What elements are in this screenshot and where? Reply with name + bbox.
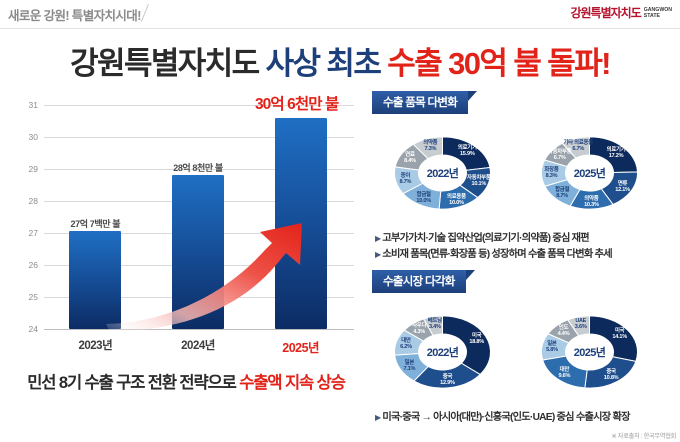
slice-percent: 8.3%	[544, 173, 558, 179]
caption-part-2: 수출액 지속 상승	[239, 374, 345, 392]
brand-logo: 강원특별자치도 GANGWON STATE	[570, 4, 672, 21]
section-export-items: 수출 품목 다변화 2022년 의료기기15.9%자동차부품10.1%의료용품1…	[372, 91, 672, 263]
y-axis-tick: 25	[14, 292, 38, 302]
donut-slice-label: 자동차부품10.1%	[467, 175, 491, 187]
donut-slice-label: 합금철8.7%	[555, 187, 569, 199]
bullet-text: 미국·중국 → 아시아(대만)·신흥국(인도·UAE) 중심 수출시장 확장	[382, 412, 629, 423]
y-axis-tick: 24	[14, 324, 38, 334]
bar-data-label: 27억 7백만 불	[71, 217, 121, 230]
tagline: 새로운 강원! 특별자치시대!	[8, 5, 141, 24]
slice-percent: 4.4%	[558, 331, 570, 337]
slice-percent: 4.3%	[412, 329, 426, 335]
x-axis-tick: 2023년	[78, 337, 112, 353]
header-divider	[0, 28, 680, 29]
bar-data-label: 30억 6천만 불	[255, 92, 338, 114]
slice-percent: 7.3%	[423, 146, 437, 152]
slice-percent: 7.1%	[403, 365, 415, 371]
donut-slice-label: 일본5.8%	[546, 341, 558, 353]
donut-slice-label: UAE3.6%	[575, 318, 587, 330]
bullet-text: 소비재 품목(면류·화장품 등) 성장하며 수출 품목 다변화 추세	[382, 249, 611, 260]
donut-slice-label: 베트남3.4%	[428, 317, 442, 329]
bar	[69, 231, 121, 329]
x-axis-line	[44, 329, 354, 330]
donut-slice-label: 의약품7.3%	[423, 140, 437, 152]
donut-row-items: 2022년 의료기기15.9%자동차부품10.1%의료용품10.0%합금철10.…	[372, 120, 672, 226]
donut-slice-label: 면류12.1%	[615, 181, 630, 193]
slice-percent: 3.4%	[428, 324, 442, 330]
slice-percent: 9.6%	[559, 373, 571, 379]
section-tag-export-items: 수출 품목 다변화	[372, 91, 468, 114]
title-part-3: 수출 30억 불 돌파!	[387, 46, 610, 81]
bullet-triangle-icon: ▶	[375, 234, 380, 243]
bullet-item: ▶미국·중국 → 아시아(대만)·신흥국(인도·UAE) 중심 수출시장 확장	[375, 410, 672, 426]
slice-percent: 10.0%	[416, 198, 431, 204]
slice-percent: 18.8%	[469, 339, 484, 345]
brand-name-ko: 강원특별자치도	[570, 4, 640, 21]
y-axis-tick: 27	[14, 228, 38, 238]
y-axis-tick: 26	[14, 260, 38, 270]
donut-slice-label: 종이8.7%	[400, 173, 412, 185]
donut-chart-markets-2025: 2025년 미국14.1%중국10.8%대만9.6%일본5.8%인도4.4%UA…	[519, 299, 660, 405]
donut-slice-label: 미국14.1%	[612, 328, 627, 340]
slice-percent: 10.8%	[604, 375, 619, 381]
donut-chart-items-2025: 2025년 의료기기17.2%면류12.1%의약품10.3%합금철8.7%화장품…	[519, 120, 660, 226]
bullets-export-items: ▶고부가가치·기술 집약산업(의료기기·의약품) 중심 재편 ▶소비재 품목(면…	[372, 231, 672, 263]
donut-row-markets: 2022년 미국18.8%중국12.9%일본7.1%대만6.2%사우디4.3%베…	[372, 299, 672, 405]
slice-percent: 8.7%	[400, 179, 412, 185]
slice-percent: 6.7%	[548, 155, 572, 161]
x-axis-tick: 2024년	[181, 337, 215, 353]
title-part-2: 사상 최초	[266, 46, 381, 81]
donut-center-label: 2022년	[427, 165, 459, 181]
slice-percent: 10.3%	[584, 201, 599, 207]
donut-slice-label: 화장품8.3%	[544, 167, 558, 179]
slice-percent: 5.8%	[546, 347, 558, 353]
bar	[172, 175, 224, 329]
bullet-text: 고부가가치·기술 집약산업(의료기기·의약품) 중심 재편	[382, 233, 589, 244]
left-caption: 민선 8기 수출 구조 전환 전략으로 수출액 지속 상승	[0, 369, 372, 393]
donut-slice-label: 의료기기17.2%	[607, 146, 626, 158]
donut-slice-label: 의료기기15.9%	[458, 145, 477, 157]
donut-slice-label: 일본7.1%	[403, 359, 415, 371]
slice-percent: 10.0%	[447, 199, 466, 205]
section-export-markets: 수출시장 다각화 2022년 미국18.8%중국12.9%일본7.1%대만6.2…	[372, 270, 672, 426]
slice-percent: 17.2%	[607, 152, 626, 158]
x-axis-tick: 2025년	[282, 337, 319, 356]
brand-name-en: GANGWON STATE	[644, 7, 672, 21]
slice-percent: 15.9%	[458, 151, 477, 157]
bar-data-label: 28억 8천만 불	[173, 161, 223, 174]
slice-percent: 6.2%	[400, 344, 412, 350]
brand-en-line2: STATE	[644, 13, 660, 19]
donut-slice-label: 중국12.9%	[440, 374, 455, 386]
donut-center-label: 2025년	[574, 165, 606, 181]
donut-chart-markets-2022: 2022년 미국18.8%중국12.9%일본7.1%대만6.2%사우디4.3%베…	[372, 299, 513, 405]
slice-percent: 10.1%	[467, 181, 491, 187]
donut-slice-label: 의약품10.3%	[584, 195, 599, 207]
export-bar-chart: 242526272829303127억 7백만 불28억 8천만 불30억 6천…	[14, 91, 354, 363]
left-column: 242526272829303127억 7백만 불28억 8천만 불30억 6천…	[0, 91, 372, 425]
donut-slice-label: 인도4.4%	[558, 325, 570, 337]
donut-slice-label: 연료8.4%	[404, 152, 416, 164]
page-title: 강원특별자치도 사상 최초 수출 30억 불 돌파!	[0, 38, 680, 83]
y-axis-tick: 28	[14, 196, 38, 206]
title-part-1: 강원특별자치도	[70, 46, 258, 81]
bullet-item: ▶고부가가치·기술 집약산업(의료기기·의약품) 중심 재편	[375, 231, 672, 247]
top-bar: 새로운 강원! 특별자치시대! 강원특별자치도 GANGWON STATE	[0, 0, 680, 28]
donut-chart-items-2022: 2022년 의료기기15.9%자동차부품10.1%의료용품10.0%합금철10.…	[372, 120, 513, 226]
y-axis-tick: 30	[14, 132, 38, 142]
donut-slice-label: 의료용품10.0%	[447, 193, 466, 205]
donut-slice-label: 대만9.6%	[559, 367, 571, 379]
slice-percent: 12.9%	[440, 380, 455, 386]
slice-percent: 6.7%	[563, 146, 593, 152]
slice-percent: 8.7%	[555, 193, 569, 199]
bullet-triangle-icon: ▶	[375, 250, 380, 259]
right-column: 수출 품목 다변화 2022년 의료기기15.9%자동차부품10.1%의료용품1…	[372, 91, 672, 425]
slice-percent: 12.1%	[615, 187, 630, 193]
source-note: ※ 자료출처 : 한국무역협회	[612, 431, 677, 440]
donut-slice-label: 기타 의료용품6.7%	[563, 140, 593, 152]
caption-part-1: 민선 8기 수출 구조 전환 전략으로	[27, 374, 236, 392]
donut-center-label: 2022년	[427, 344, 459, 360]
brand-en-line1: GANGWON	[644, 7, 672, 13]
donut-slice-label: 미국18.8%	[469, 333, 484, 345]
bullets-export-markets: ▶미국·중국 → 아시아(대만)·신흥국(인도·UAE) 중심 수출시장 확장	[372, 410, 672, 426]
divider-slash	[141, 4, 149, 22]
bullet-item: ▶소비재 품목(면류·화장품 등) 성장하며 수출 품목 다변화 추세	[375, 247, 672, 263]
slice-percent: 3.6%	[575, 324, 587, 330]
donut-slice-label: 합금철10.0%	[416, 192, 431, 204]
donut-slice-label: 중국10.8%	[604, 369, 619, 381]
bar	[275, 118, 327, 329]
y-axis-tick: 29	[14, 164, 38, 174]
section-tag-export-markets: 수출시장 다각화	[372, 270, 466, 293]
slice-percent: 14.1%	[612, 334, 627, 340]
donut-center-label: 2025년	[574, 344, 606, 360]
slice-percent: 8.4%	[404, 158, 416, 164]
donut-slice-label: 사우디4.3%	[412, 323, 426, 335]
donut-slice-label: 대만6.2%	[400, 337, 412, 349]
y-axis-tick: 31	[14, 100, 38, 110]
bullet-triangle-icon: ▶	[375, 413, 380, 422]
